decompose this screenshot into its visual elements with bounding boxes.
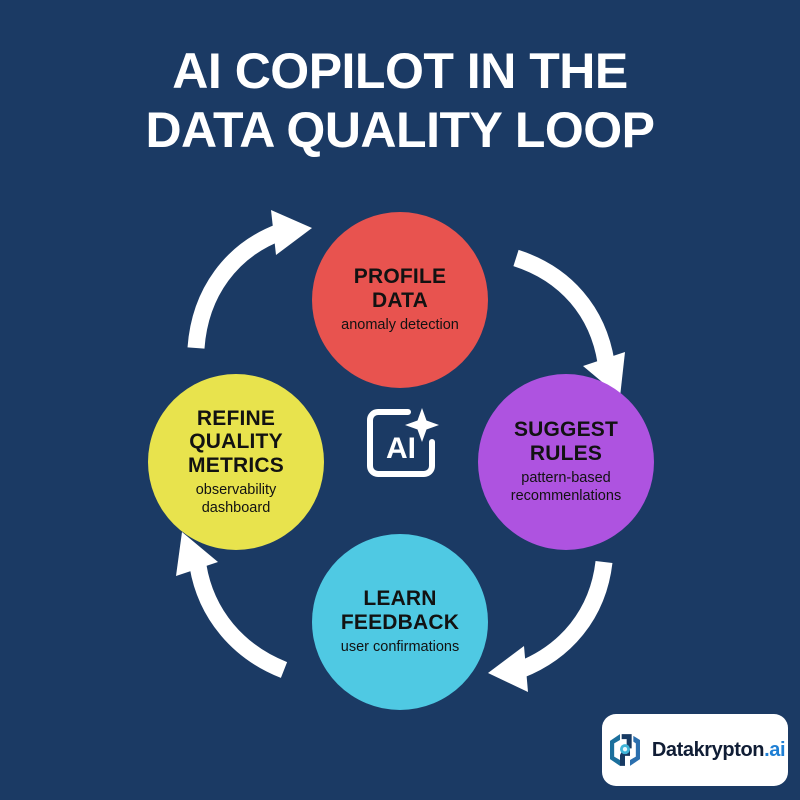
cycle-node-learn-title: Learn Feedback xyxy=(341,587,459,634)
arrow-learn-to-refine xyxy=(176,532,284,670)
brand-wordmark: Datakrypton.ai xyxy=(652,739,785,762)
ai-icon-label: AI xyxy=(386,432,416,465)
brand-name: Datakrypton xyxy=(652,739,764,761)
brand-tld: .ai xyxy=(764,739,785,761)
cycle-node-learn[interactable]: Learn Feedback user confirmations xyxy=(312,534,488,710)
brand-logo-badge[interactable]: Datakrypton.ai xyxy=(602,714,788,786)
datakrypton-logo-icon xyxy=(605,730,645,770)
arrow-refine-to-profile xyxy=(196,210,312,348)
cycle-node-refine-subtitle: observability dashboard xyxy=(196,482,277,517)
cycle-node-profile[interactable]: Profile Data anomaly detection xyxy=(312,212,488,388)
cycle-node-learn-subtitle: user confirmations xyxy=(341,639,459,657)
cycle-node-refine-title: Refine Quality Metrics xyxy=(188,407,284,478)
cycle-node-suggest[interactable]: Suggest Rules pattern-based recommenlati… xyxy=(478,374,654,550)
infographic-poster: AI Copilot in the Data Quality Loop xyxy=(0,0,800,800)
data-quality-loop-diagram: Profile Data anomaly detection Suggest R… xyxy=(0,0,800,800)
cycle-node-profile-title: Profile Data xyxy=(354,265,446,312)
ai-sparkle-icon: AI xyxy=(356,398,446,488)
cycle-node-suggest-subtitle: pattern-based recommenlations xyxy=(511,470,621,505)
arrow-suggest-to-learn xyxy=(488,562,604,692)
cycle-node-profile-subtitle: anomaly detection xyxy=(341,317,459,335)
cycle-node-suggest-title: Suggest Rules xyxy=(514,418,618,465)
cycle-node-refine[interactable]: Refine Quality Metrics observability das… xyxy=(148,374,324,550)
